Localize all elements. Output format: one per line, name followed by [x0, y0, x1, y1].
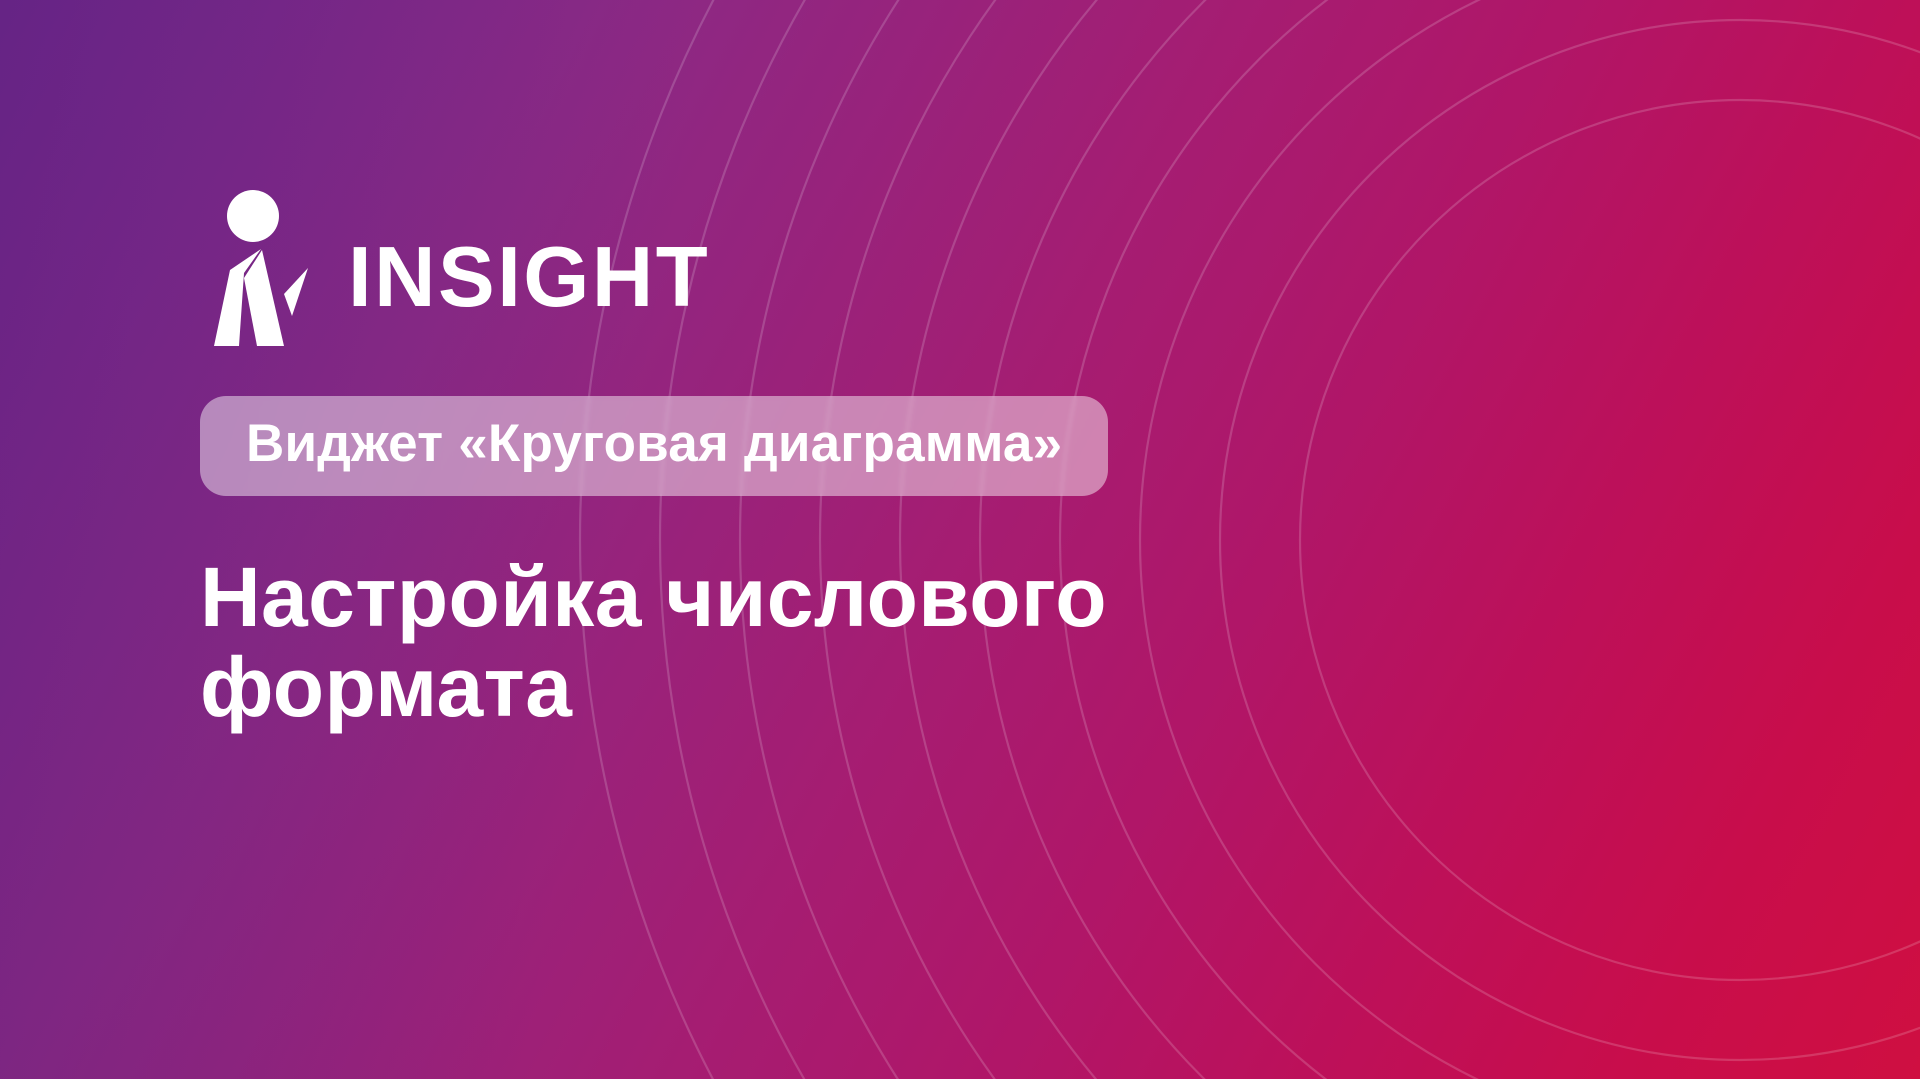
slide-title-line-2: формата	[200, 642, 1440, 733]
title-slide: INSIGHT Виджет «Круговая диаграмма» Наст…	[0, 0, 1920, 1079]
slide-title-line-1: Настройка числового	[200, 552, 1440, 643]
insight-logo: INSIGHT	[200, 186, 1620, 346]
insight-wordmark: INSIGHT	[348, 235, 710, 346]
insight-figure-mark-icon	[200, 186, 322, 346]
slide-content: INSIGHT Виджет «Круговая диаграмма» Наст…	[200, 186, 1620, 733]
widget-type-badge: Виджет «Круговая диаграмма»	[200, 396, 1108, 496]
widget-type-badge-label: Виджет «Круговая диаграмма»	[246, 414, 1062, 473]
slide-title: Настройка числового формата	[200, 552, 1440, 733]
